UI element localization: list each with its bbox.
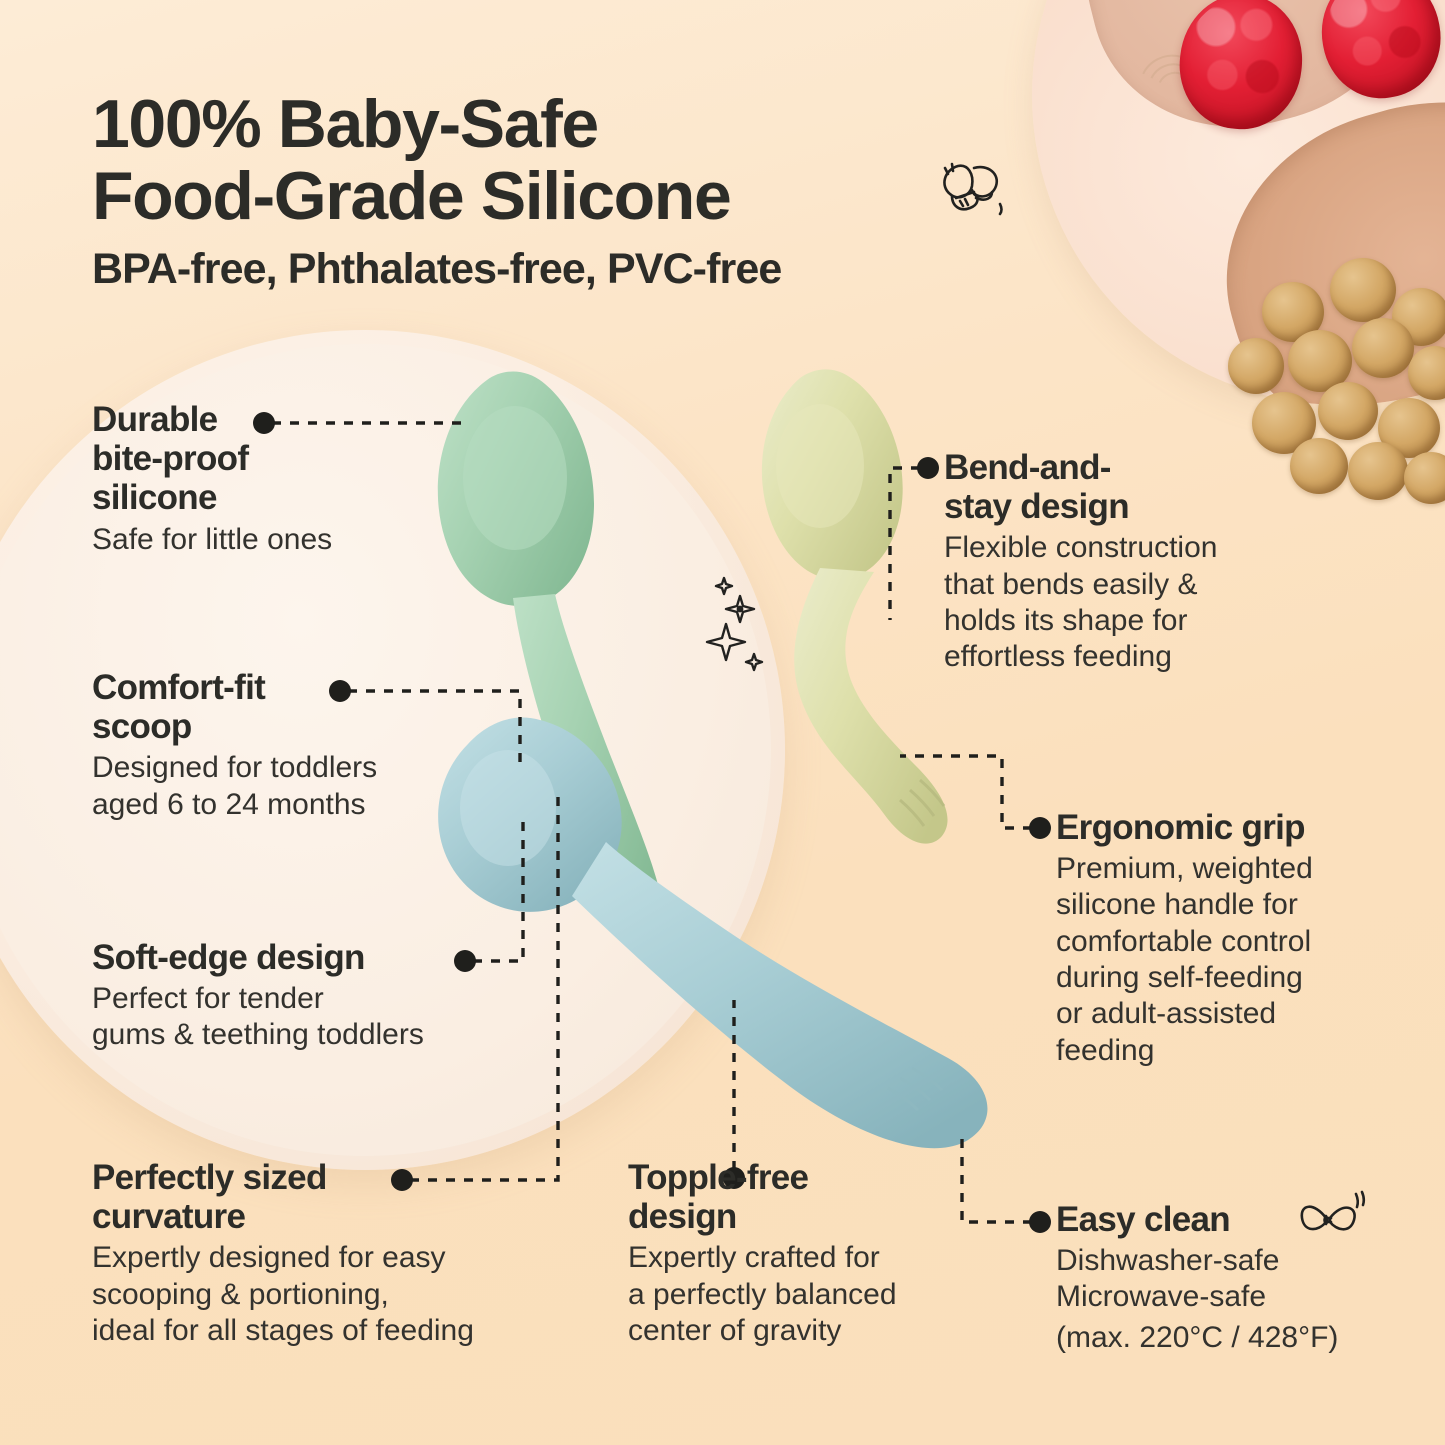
callout-title: Easy clean <box>1056 1200 1396 1239</box>
sparkle-doodle <box>700 562 778 672</box>
callout-body: Designed for toddlers aged 6 to 24 month… <box>92 750 452 823</box>
headline-title: 100% Baby-Safe Food-Grade Silicone <box>92 88 1022 232</box>
callout-comfort-fit: Comfort-fit scoop Designed for toddlers … <box>92 668 452 823</box>
callout-durable: Durable bite-proof silicone Safe for lit… <box>92 400 392 558</box>
headline-subtitle: BPA-free, Phthalates-free, PVC-free <box>92 246 1022 293</box>
callout-soft-edge: Soft-edge design Perfect for tender gums… <box>92 938 512 1054</box>
headline-title-line1: 100% Baby-Safe <box>92 86 598 162</box>
callout-title: Durable bite-proof silicone <box>92 400 392 518</box>
callout-body: Expertly crafted for a perfectly balance… <box>628 1240 958 1349</box>
callout-topple-free: Topple-free design Expertly crafted for … <box>628 1158 958 1349</box>
callout-ergonomic-grip: Ergonomic grip Premium, weighted silicon… <box>1056 808 1401 1069</box>
callout-temperature-note: (max. 220°C / 428°F) <box>1056 1320 1396 1356</box>
callout-bend-and-stay: Bend-and- stay design Flexible construct… <box>944 448 1274 676</box>
headline-title-line2: Food-Grade Silicone <box>92 158 730 234</box>
callout-easy-clean: Easy clean Dishwasher-safe Microwave-saf… <box>1056 1200 1396 1356</box>
callout-title: Perfectly sized curvature <box>92 1158 562 1236</box>
callout-body: Perfect for tender gums & teething toddl… <box>92 981 512 1054</box>
callout-body: Flexible construction that bends easily … <box>944 530 1274 675</box>
callout-title: Topple-free design <box>628 1158 958 1236</box>
callout-body: Premium, weighted silicone handle for co… <box>1056 851 1401 1069</box>
callout-body: Dishwasher-safe Microwave-safe <box>1056 1243 1396 1316</box>
blue-spoon <box>420 690 1020 1180</box>
callout-title: Bend-and- stay design <box>944 448 1274 526</box>
product-infographic: 100% Baby-Safe Food-Grade Silicone BPA-f… <box>0 0 1445 1445</box>
callout-title: Soft-edge design <box>92 938 512 977</box>
headline-block: 100% Baby-Safe Food-Grade Silicone BPA-f… <box>92 88 1022 293</box>
callout-perfectly-sized: Perfectly sized curvature Expertly desig… <box>92 1158 562 1349</box>
callout-body: Expertly designed for easy scooping & po… <box>92 1240 562 1349</box>
callout-title: Ergonomic grip <box>1056 808 1401 847</box>
callout-title: Comfort-fit scoop <box>92 668 452 746</box>
callout-body: Safe for little ones <box>92 522 392 558</box>
